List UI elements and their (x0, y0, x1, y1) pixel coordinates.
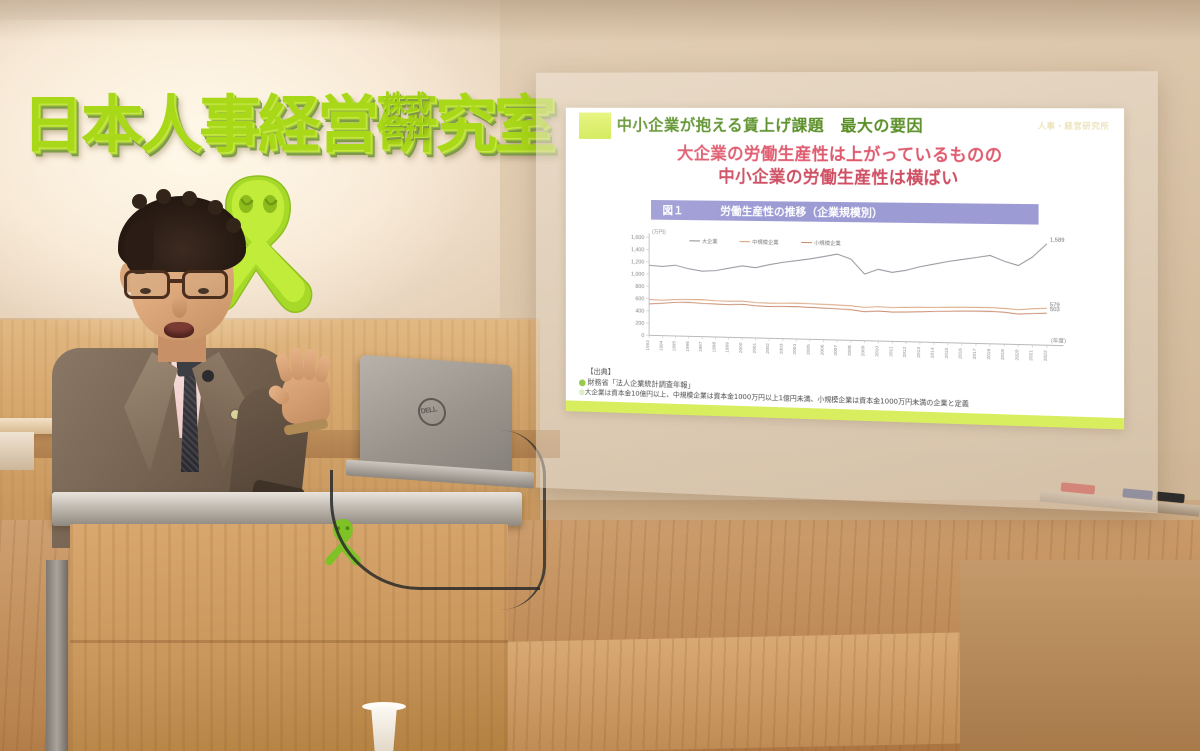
legend-label: 小規模企業 (814, 239, 841, 248)
company-suffix-line2: 会社 (382, 115, 428, 141)
hair-curl (156, 189, 171, 204)
legend-label: 中規模企業 (752, 238, 779, 247)
lens-left (124, 270, 170, 299)
series-end-label: 1,589 (1050, 238, 1065, 244)
chart-svg: 02004006008001,0001,2001,4001,6001993199… (615, 221, 1082, 383)
shelf-box (0, 432, 34, 470)
x-axis-tick-label: 2022 (1043, 350, 1048, 361)
y-axis-tick-label: 0 (641, 333, 644, 339)
x-axis-tick-label: 2003 (779, 343, 784, 354)
x-axis-tick-label: 1993 (645, 340, 650, 351)
y-axis-tick-label: 200 (635, 321, 644, 327)
x-axis-tick-label: 2010 (874, 346, 879, 357)
x-axis-tick-label: 2005 (806, 344, 811, 355)
slide-corner-logo: 人事・経営研究所 (1038, 120, 1110, 131)
x-axis-tick-label: 2008 (847, 345, 852, 356)
x-axis-tick-label: 2018 (986, 348, 991, 359)
x-axis-tick-label: 2004 (792, 343, 797, 354)
x-axis-tick-label: 2021 (1028, 349, 1033, 360)
figure-tag: 図１ (663, 202, 684, 218)
glasses-bridge (170, 279, 184, 283)
x-axis-tick-label: 2016 (958, 348, 963, 359)
x-axis-unit-label: (年度) (1051, 336, 1066, 345)
company-wall-sign: 日本人事経営研究室 株式 会社 (22, 84, 422, 176)
x-axis-tick-label: 2015 (944, 347, 949, 358)
x-axis-tick-label: 2001 (752, 342, 757, 353)
y-axis-tick-label: 1,200 (631, 259, 644, 265)
x-axis-tick-label: 2006 (819, 344, 824, 355)
series-end-label: 503 (1050, 307, 1060, 313)
x-axis-tick-label: 2000 (738, 342, 743, 353)
finger (314, 355, 332, 383)
slide-header: 中小企業が抱える賃上げ課題 最大の要因 人事・経営研究所 (566, 108, 1124, 146)
podium-leg (46, 560, 68, 751)
x-axis-tick-label: 2002 (765, 343, 770, 354)
x-axis-tick-label: 2019 (1000, 349, 1005, 360)
lens-right (182, 270, 228, 299)
header-accent-block (579, 113, 611, 139)
x-axis-tick-label: 1995 (672, 340, 677, 351)
chart-axes (649, 233, 1063, 345)
y-axis-tick-label: 1,400 (631, 247, 644, 253)
line-chart: 02004006008001,0001,2001,4001,6001993199… (615, 221, 1082, 383)
x-axis-tick-label: 1997 (698, 341, 703, 352)
company-name-text: 日本人事経営研究室 (22, 84, 422, 166)
slide-header-title: 中小企業が抱える賃上げ課題 最大の要因 (617, 112, 923, 137)
x-axis-tick-label: 1999 (725, 342, 730, 353)
x-axis-tick-label: 2013 (916, 347, 921, 358)
y-axis-tick-label: 400 (635, 308, 644, 314)
y-axis-unit-label: (万円) (652, 228, 666, 235)
presentation-slide: 中小企業が抱える賃上げ課題 最大の要因 人事・経営研究所 大企業の労働生産性は上… (566, 108, 1124, 430)
chart-line-小規模企業 (649, 301, 1047, 315)
x-axis-tick-label: 1994 (658, 340, 663, 351)
x-axis-tick-label: 1996 (685, 341, 690, 352)
x-axis-tick-label: 2014 (930, 347, 935, 358)
company-name-suffix: 株式 会社 (382, 92, 428, 140)
eyeglasses (124, 270, 240, 300)
y-axis-tick-label: 600 (635, 296, 644, 302)
hair-curl (208, 200, 223, 215)
y-axis-tick-label: 1,600 (631, 235, 644, 241)
figure-title-bar: 図１ 労働生産性の推移（企業規模別） (651, 200, 1039, 225)
x-axis-tick-label: 2020 (1014, 349, 1019, 360)
floor-right (960, 560, 1200, 751)
y-axis-tick-label: 800 (635, 284, 644, 290)
hair-curl (132, 194, 147, 209)
slide-subtitle: 大企業の労働生産性は上がっているものの 中小企業の労働生産性は横ばい (566, 143, 1124, 193)
figure-title: 労働生産性の推移（企業規模別） (720, 203, 883, 221)
legend-label: 大企業 (702, 237, 718, 245)
x-axis-tick-label: 1998 (711, 341, 716, 352)
company-suffix-line1: 株式 (382, 91, 428, 117)
ceiling-shadow (0, 0, 1200, 42)
slide-subtitle-line2: 中小企業の労働生産性は横ばい (566, 165, 1124, 193)
x-axis-tick-label: 2009 (860, 345, 865, 356)
x-axis-tick-label: 2012 (902, 346, 907, 357)
finger (289, 347, 304, 380)
bullet-dot-icon (579, 379, 586, 386)
lapel-microphone (202, 370, 214, 382)
x-axis-tick-label: 2007 (833, 345, 838, 356)
projection-screen: 中小企業が抱える賃上げ課題 最大の要因 人事・経営研究所 大企業の労働生産性は上… (536, 71, 1158, 513)
hair-curl (226, 218, 241, 233)
raised-hand (274, 348, 336, 424)
mouth (164, 322, 194, 338)
x-axis-tick-label: 2017 (972, 348, 977, 359)
room-scene: 日本人事経営研究室 株式 会社 (0, 0, 1200, 751)
x-axis-tick-label: 2011 (888, 346, 893, 357)
y-axis-tick-label: 1,000 (631, 272, 644, 278)
hair-curl (182, 191, 197, 206)
